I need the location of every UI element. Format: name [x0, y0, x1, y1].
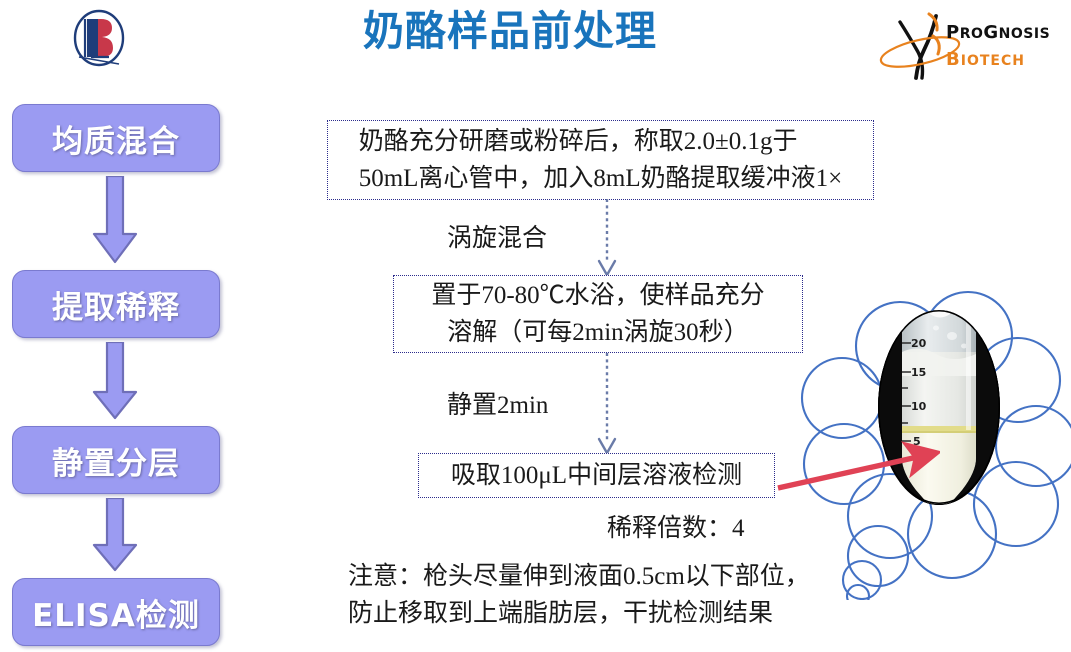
flow-arrow-1-icon — [86, 176, 144, 264]
flow-step-label: 提取稀释 — [52, 282, 180, 327]
flow-step-label: 静置分层 — [52, 438, 180, 483]
flow-step-extract-dilute[interactable]: 提取稀释 — [12, 270, 220, 338]
flow-arrow-2-icon — [86, 342, 144, 420]
connector-arrow-2-icon — [594, 353, 620, 455]
graduation-15: 15 — [911, 366, 926, 379]
pointer-arrow-to-middle-layer — [770, 440, 940, 510]
vortex-label: 涡旋混合 — [447, 222, 547, 256]
brand-line-biotech: BIOTECH — [946, 48, 1066, 73]
graduation-10: 10 — [911, 400, 927, 413]
water-bath-line-2: 溶解（可每2min涡旋30秒） — [447, 319, 748, 346]
caution-note-line-2: 防止移取到上端脂肪层，干扰检测结果 — [348, 595, 868, 632]
graduation-20: 20 — [911, 337, 927, 350]
caution-note: 注意：枪头尽量伸到液面0.5cm以下部位， 防止移取到上端脂肪层，干扰检测结果 — [348, 558, 868, 632]
pipette-box: 吸取100μL中间层溶液检测 — [418, 453, 775, 498]
flow-step-homogenize[interactable]: 均质混合 — [12, 104, 220, 172]
prognosis-biotech-wordmark: PROGNOSIS BIOTECH — [946, 22, 1066, 73]
caution-note-line-1: 注意：枪头尽量伸到液面0.5cm以下部位， — [348, 558, 868, 595]
flow-step-label-latin: ELISA — [32, 598, 136, 634]
grind-weigh-box: 奶酪充分研磨或粉碎后，称取2.0±0.1g于 50mL离心管中，加入8mL奶酪提… — [327, 120, 874, 200]
dilution-factor-label: 稀释倍数：4 — [607, 512, 745, 546]
flow-step-label: ELISA检测 — [32, 590, 200, 635]
water-bath-line-1: 置于70-80℃水浴，使样品充分 — [431, 282, 764, 309]
flow-step-elisa-detection[interactable]: ELISA检测 — [12, 578, 220, 646]
flow-step-label: 均质混合 — [52, 116, 180, 161]
page-title: 奶酪样品前处理 — [300, 4, 720, 60]
water-bath-box: 置于70-80℃水浴，使样品充分 溶解（可每2min涡旋30秒） — [393, 275, 803, 353]
grind-weigh-line-1: 奶酪充分研磨或粉碎后，称取2.0±0.1g于 — [359, 128, 798, 155]
slide-canvas: 奶酪样品前处理 PROGNOSIS BIOTECH 均质混合 提取稀释 静置分层… — [0, 0, 1071, 652]
brand-line-prognosis: PROGNOSIS — [946, 22, 1066, 45]
stand-label: 静置2min — [447, 389, 548, 423]
bank-of-communications-logo — [65, 7, 133, 69]
flow-arrow-3-icon — [86, 498, 144, 572]
grind-weigh-line-2: 50mL离心管中，加入8mL奶酪提取缓冲液1× — [359, 165, 843, 192]
flow-step-label-cjk: 检测 — [136, 598, 200, 634]
flow-step-settle-layer[interactable]: 静置分层 — [12, 426, 220, 494]
pipette-line-1: 吸取100μL中间层溶液检测 — [451, 462, 742, 489]
connector-arrow-1-icon — [594, 199, 620, 277]
